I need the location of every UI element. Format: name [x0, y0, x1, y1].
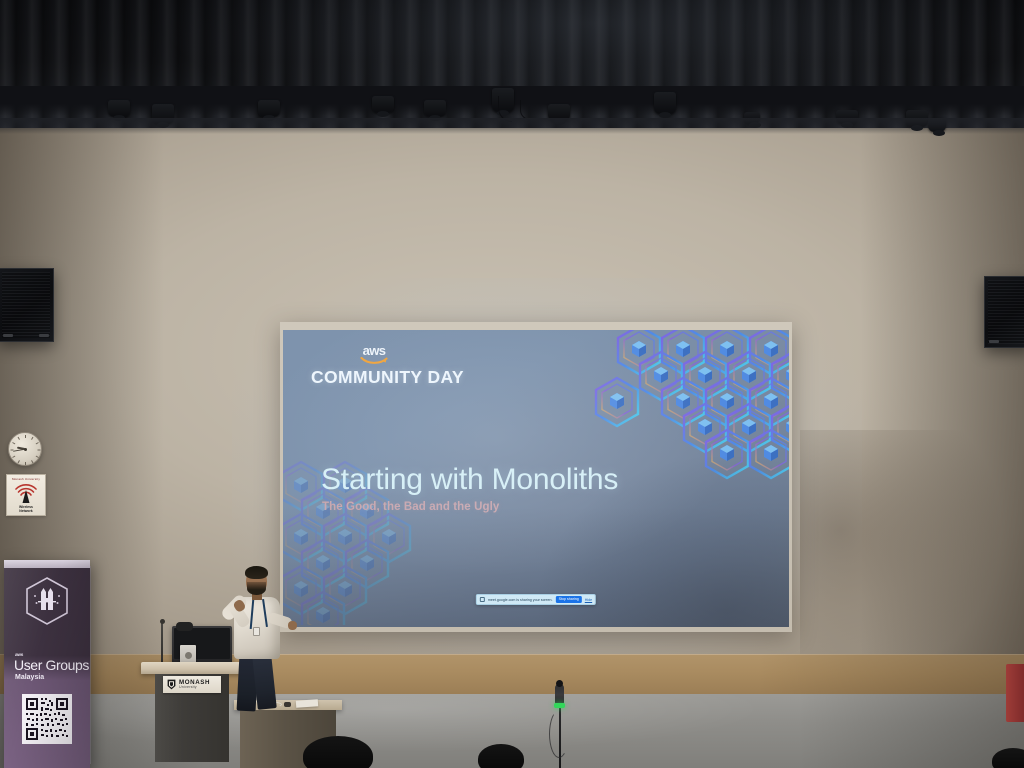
red-object: [1006, 664, 1024, 722]
wireless-sign-label: Wireless Network: [19, 506, 33, 513]
audience-head: [478, 744, 524, 768]
mic-body: [555, 684, 564, 704]
projector-hotspot: [283, 330, 789, 627]
stage-light: [424, 100, 446, 117]
screen-share-notification[interactable]: meet.google.com is sharing your screen. …: [476, 594, 596, 605]
monash-shield-icon: [167, 679, 176, 690]
wifi-waves-icon: [12, 482, 40, 506]
presenter-badge: [253, 627, 260, 636]
projected-slide: aws COMMUNITY DAY Starting with Monolith…: [283, 330, 789, 627]
speaker-mount: [989, 340, 999, 343]
gooseneck-microphone: [161, 622, 163, 662]
presenter-raised-arm: [220, 593, 249, 622]
camera: [176, 622, 193, 631]
presenter-hair: [245, 566, 268, 579]
speaker-mount: [39, 334, 49, 337]
audience-microphone-stand: [548, 684, 570, 768]
aws-user-group-banner: aws User Groups Malaysia: [4, 560, 90, 768]
screen-share-icon: [480, 597, 485, 602]
paper-sheet: [296, 699, 318, 708]
mic-status-led: [554, 703, 565, 708]
wainscot-shading: [0, 654, 1024, 696]
presenter-legs: [236, 655, 278, 711]
wireless-sign-caption: Monash University: [12, 477, 40, 481]
clock-center-pin: [24, 448, 27, 451]
stop-sharing-button[interactable]: Stop sharing: [556, 596, 582, 603]
speaker-mount: [3, 334, 13, 337]
curtain-shadow-band: [0, 118, 1024, 134]
stage-light: [108, 100, 130, 117]
presenter-beard: [247, 582, 266, 595]
laptop-logo: [185, 652, 192, 659]
hide-link[interactable]: Hide: [585, 598, 592, 602]
wall-speaker-right: [984, 276, 1024, 348]
stage-light: [654, 92, 676, 114]
analog-wall-clock: [8, 432, 42, 466]
speaker-grille: [988, 280, 1024, 344]
share-message: meet.google.com is sharing your screen.: [488, 598, 553, 602]
presenter-right-hand: [288, 621, 297, 630]
stage-light: [372, 96, 394, 113]
mic-cable: [549, 710, 569, 758]
speaker-grille: [2, 272, 50, 338]
wall-speaker-left: [0, 268, 54, 342]
presenter: [206, 563, 298, 708]
audience-head: [303, 736, 373, 768]
wireless-network-sign: Monash University Wireless Network: [6, 474, 46, 516]
stage-light: [258, 100, 280, 117]
banner-sheen: [4, 560, 90, 768]
mic-capsule: [556, 680, 563, 687]
presentation-photo-scene: Monash University Wireless Network: [0, 0, 1024, 768]
